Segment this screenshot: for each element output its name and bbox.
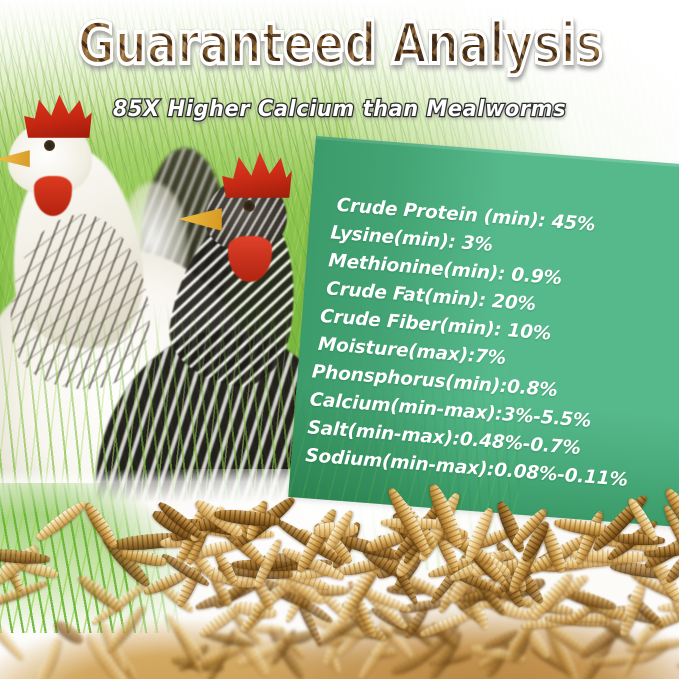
mealworm-larva bbox=[32, 636, 66, 679]
mealworm-larvae-field bbox=[0, 494, 679, 679]
product-infographic-poster: Guaranteed Analysis Guaranteed Analysis … bbox=[0, 0, 679, 679]
barred-chicken-eye bbox=[243, 200, 255, 212]
guaranteed-analysis-list: Crude Protein (min): 45% Lysine(min): 3%… bbox=[290, 190, 679, 500]
guaranteed-analysis-panel: Crude Protein (min): 45% Lysine(min): 3%… bbox=[288, 136, 679, 528]
white-chicken-eye bbox=[44, 140, 55, 151]
mealworm-larva bbox=[164, 612, 208, 662]
